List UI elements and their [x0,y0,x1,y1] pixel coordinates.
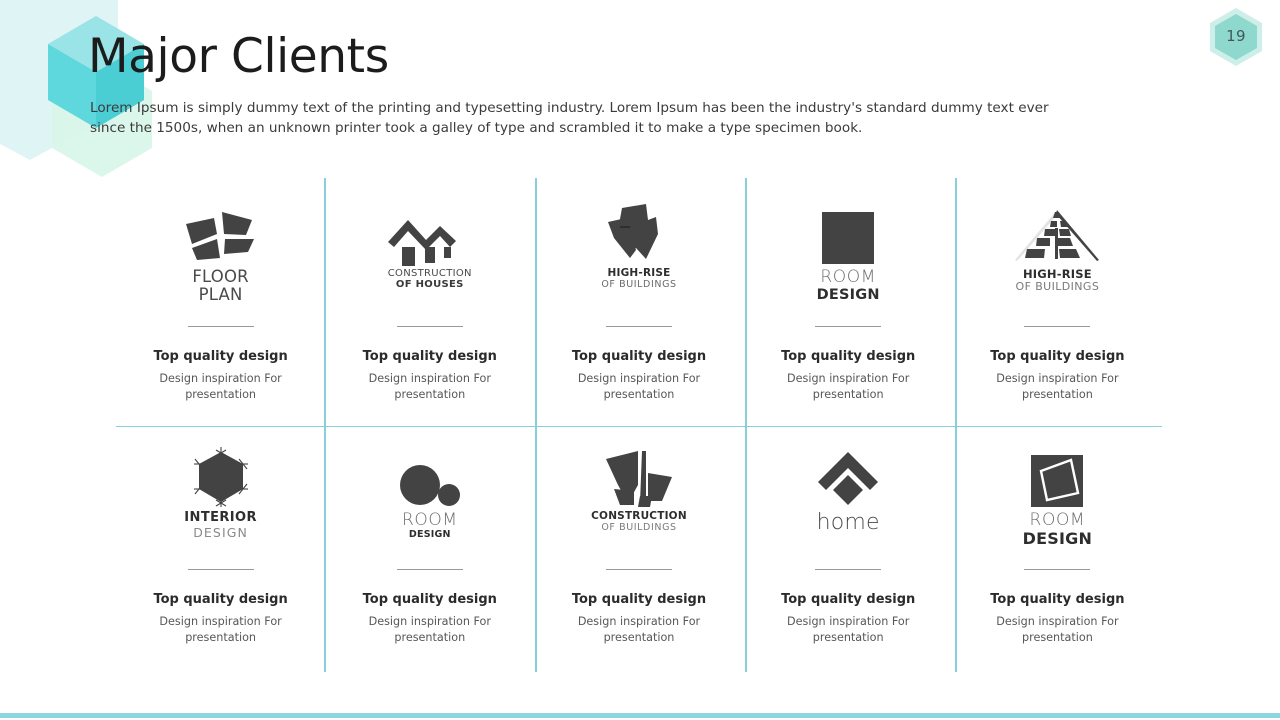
wordmark-line-1: ROOM [817,268,880,287]
wordmark-line-1: CONSTRUCTION [591,511,687,523]
logo-underline [397,326,463,327]
client-card[interactable]: HIGH-RISE OF BUILDINGS Top quality desig… [534,186,743,429]
hexagon-sparkle-icon [190,445,252,507]
wordmark-line-1: home [817,511,880,536]
logo-underline [606,326,672,327]
logo-underline [815,326,881,327]
logo-underline [815,569,881,570]
card-caption-subtitle: Design inspiration For presentation [365,371,495,403]
client-wordmark: INTERIOR DESIGN [184,511,257,540]
card-caption-subtitle: Design inspiration For presentation [992,371,1122,403]
client-card[interactable]: CONSTRUCTION OF BUILDINGS Top quality de… [534,429,743,672]
wordmark-line-1: CONSTRUCTION [388,268,472,279]
wordmark-line-1: HIGH-RISE [601,268,676,280]
card-caption-title: Top quality design [781,349,915,364]
card-caption-subtitle: Design inspiration For presentation [574,614,704,646]
client-card[interactable]: home Top quality design Design inspirati… [744,429,953,672]
rooflines-houses-icon [388,202,472,264]
client-card[interactable]: ROOM DESIGN Top quality design Design in… [325,429,534,672]
client-wordmark: CONSTRUCTION OF BUILDINGS [591,511,687,533]
client-card[interactable]: CONSTRUCTION OF HOUSES Top quality desig… [325,186,534,429]
card-caption-title: Top quality design [153,349,287,364]
client-wordmark: HIGH-RISE OF BUILDINGS [601,268,676,290]
angular-burst-icon [604,445,674,507]
card-caption-subtitle: Design inspiration For presentation [156,371,286,403]
logo-underline [188,569,254,570]
wordmark-line-2: OF BUILDINGS [1016,281,1100,293]
card-caption-subtitle: Design inspiration For presentation [992,614,1122,646]
client-logo: ROOM DESIGN [773,202,923,314]
client-logo: INTERIOR DESIGN [146,445,296,557]
client-wordmark: ROOM DESIGN [817,268,880,303]
wordmark-line-2: OF BUILDINGS [591,523,687,534]
card-caption-title: Top quality design [781,592,915,607]
wordmark-line-1: ROOM [1023,511,1092,530]
wordmark-line-2: DESIGN [184,526,257,540]
wordmark-line-2: PLAN [192,286,249,304]
solid-square-icon [822,202,874,264]
wordmark-line-2: OF HOUSES [388,279,472,290]
card-caption-title: Top quality design [572,349,706,364]
client-card[interactable]: FLOOR PLAN Top quality design Design ins… [116,186,325,429]
client-logo: ROOM DESIGN [355,445,505,557]
client-wordmark: HIGH-RISE OF BUILDINGS [1016,268,1100,293]
page-number-badge: 19 [1206,6,1266,68]
wordmark-line-1: HIGH-RISE [1016,268,1100,281]
two-circles-icon [400,445,460,507]
card-caption-subtitle: Design inspiration For presentation [783,371,913,403]
wordmark-line-1: FLOOR [192,268,249,286]
logo-underline [397,569,463,570]
wordmark-line-2: DESIGN [1023,530,1092,548]
clients-grid: FLOOR PLAN Top quality design Design ins… [116,186,1162,672]
client-wordmark: ROOM DESIGN [1023,511,1092,548]
client-logo: FLOOR PLAN [146,202,296,314]
card-caption-subtitle: Design inspiration For presentation [365,614,495,646]
client-logo: CONSTRUCTION OF HOUSES [355,202,505,314]
logo-underline [188,326,254,327]
card-caption-title: Top quality design [990,349,1124,364]
client-wordmark: FLOOR PLAN [192,268,249,305]
page-number-text: 19 [1226,29,1246,45]
wordmark-line-1: ROOM [402,511,458,530]
client-logo: CONSTRUCTION OF BUILDINGS [564,445,714,557]
perspective-tower-icon [1011,202,1103,264]
client-wordmark: ROOM DESIGN [402,511,458,541]
client-logo: ROOM DESIGN [982,445,1132,557]
card-caption-title: Top quality design [363,592,497,607]
card-caption-subtitle: Design inspiration For presentation [783,614,913,646]
wordmark-line-2: OF BUILDINGS [601,280,676,291]
client-card[interactable]: HIGH-RISE OF BUILDINGS Top quality desig… [953,186,1162,429]
card-caption-title: Top quality design [990,592,1124,607]
client-card[interactable]: INTERIOR DESIGN Top quality design Desig… [116,429,325,672]
wordmark-line-2: DESIGN [402,530,458,541]
client-wordmark: home [817,511,880,536]
client-logo: HIGH-RISE OF BUILDINGS [982,202,1132,314]
square-inset-outline-icon [1031,445,1083,507]
chevron-diamond-home-icon [817,445,879,507]
client-wordmark: CONSTRUCTION OF HOUSES [388,268,472,290]
bottom-accent-bar [0,713,1280,718]
card-caption-subtitle: Design inspiration For presentation [156,614,286,646]
client-card[interactable]: ROOM DESIGN Top quality design Design in… [744,186,953,429]
card-caption-subtitle: Design inspiration For presentation [574,371,704,403]
wordmark-line-2: DESIGN [817,287,880,303]
pinwheel-floorplan-icon [184,202,258,264]
logo-underline [1024,569,1090,570]
wordmark-line-1: INTERIOR [184,511,257,526]
logo-underline [606,569,672,570]
client-logo: HIGH-RISE OF BUILDINGS [564,202,714,314]
card-caption-title: Top quality design [572,592,706,607]
page-title: Major Clients [88,32,389,81]
card-caption-title: Top quality design [153,592,287,607]
client-card[interactable]: ROOM DESIGN Top quality design Design in… [953,429,1162,672]
page-subtitle: Lorem Ipsum is simply dummy text of the … [90,98,1070,138]
client-logo: home [773,445,923,557]
skyscraper-cluster-icon [606,202,672,264]
logo-underline [1024,326,1090,327]
card-caption-title: Top quality design [363,349,497,364]
